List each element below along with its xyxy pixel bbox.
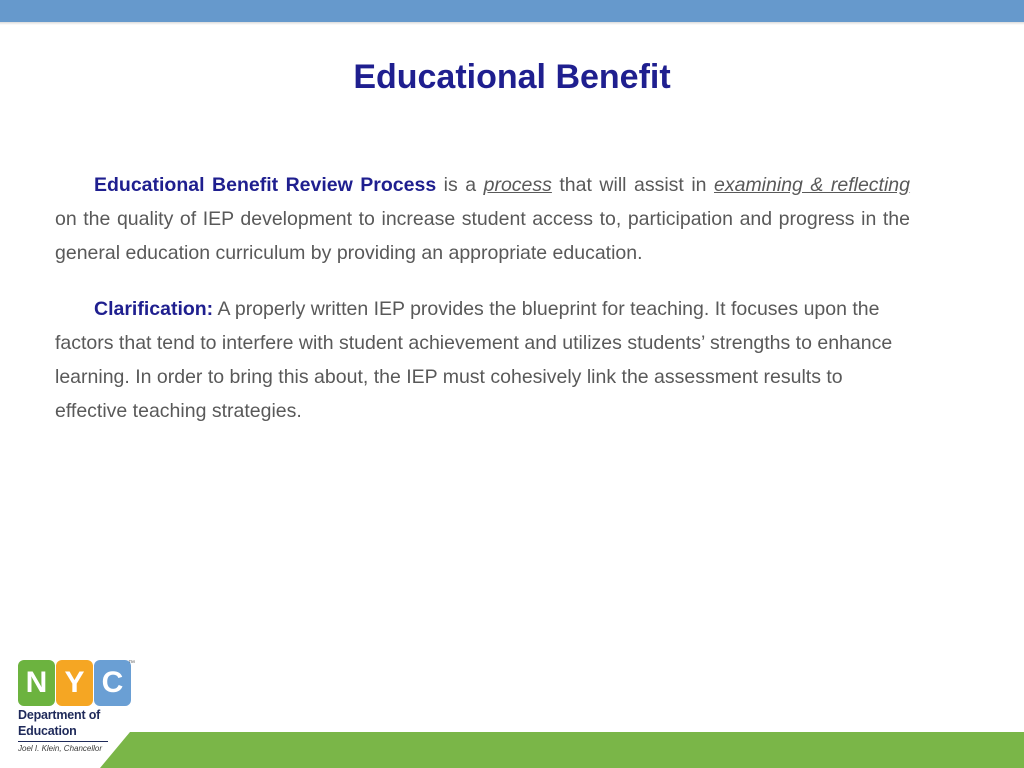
paragraph-clarification-lead: Clarification:: [94, 298, 213, 320]
paragraph-process: Educational Benefit Review Process is a …: [55, 168, 910, 270]
logo-department-line-1: Department of: [18, 709, 138, 722]
paragraph-process-emphasis-2: examining & reflecting: [714, 174, 910, 196]
logo-nyc-blocks: N Y C ™: [18, 660, 130, 706]
bottom-decoration-band: [0, 732, 1024, 768]
logo-chancellor: Joel I. Klein, Chancellor: [18, 744, 138, 753]
top-decoration-bar: [0, 0, 1024, 22]
paragraph-process-text-3: on the quality of IEP development to inc…: [55, 208, 910, 264]
nyc-doe-logo: N Y C ™ Department of Education Joel I. …: [18, 660, 138, 740]
trademark-icon: ™: [128, 660, 135, 667]
top-bar-shadow: [0, 22, 1024, 25]
logo-divider: [18, 741, 108, 742]
paragraph-process-emphasis-1: process: [484, 174, 552, 196]
slide: Educational Benefit Educational Benefit …: [0, 0, 1024, 768]
bottom-band-fill: [0, 732, 1024, 768]
slide-body: Educational Benefit Review Process is a …: [55, 168, 910, 450]
paragraph-clarification: Clarification: A properly written IEP pr…: [55, 292, 910, 428]
logo-letter-c: C: [94, 660, 131, 706]
logo-letter-y: Y: [56, 660, 93, 706]
paragraph-process-lead: Educational Benefit Review Process: [94, 174, 436, 196]
logo-letter-n: N: [18, 660, 55, 706]
paragraph-process-text-2: that will assist in: [552, 174, 714, 196]
paragraph-process-text-1: is a: [436, 174, 483, 196]
page-title: Educational Benefit: [0, 58, 1024, 97]
logo-department-line-2: Education: [18, 725, 138, 738]
